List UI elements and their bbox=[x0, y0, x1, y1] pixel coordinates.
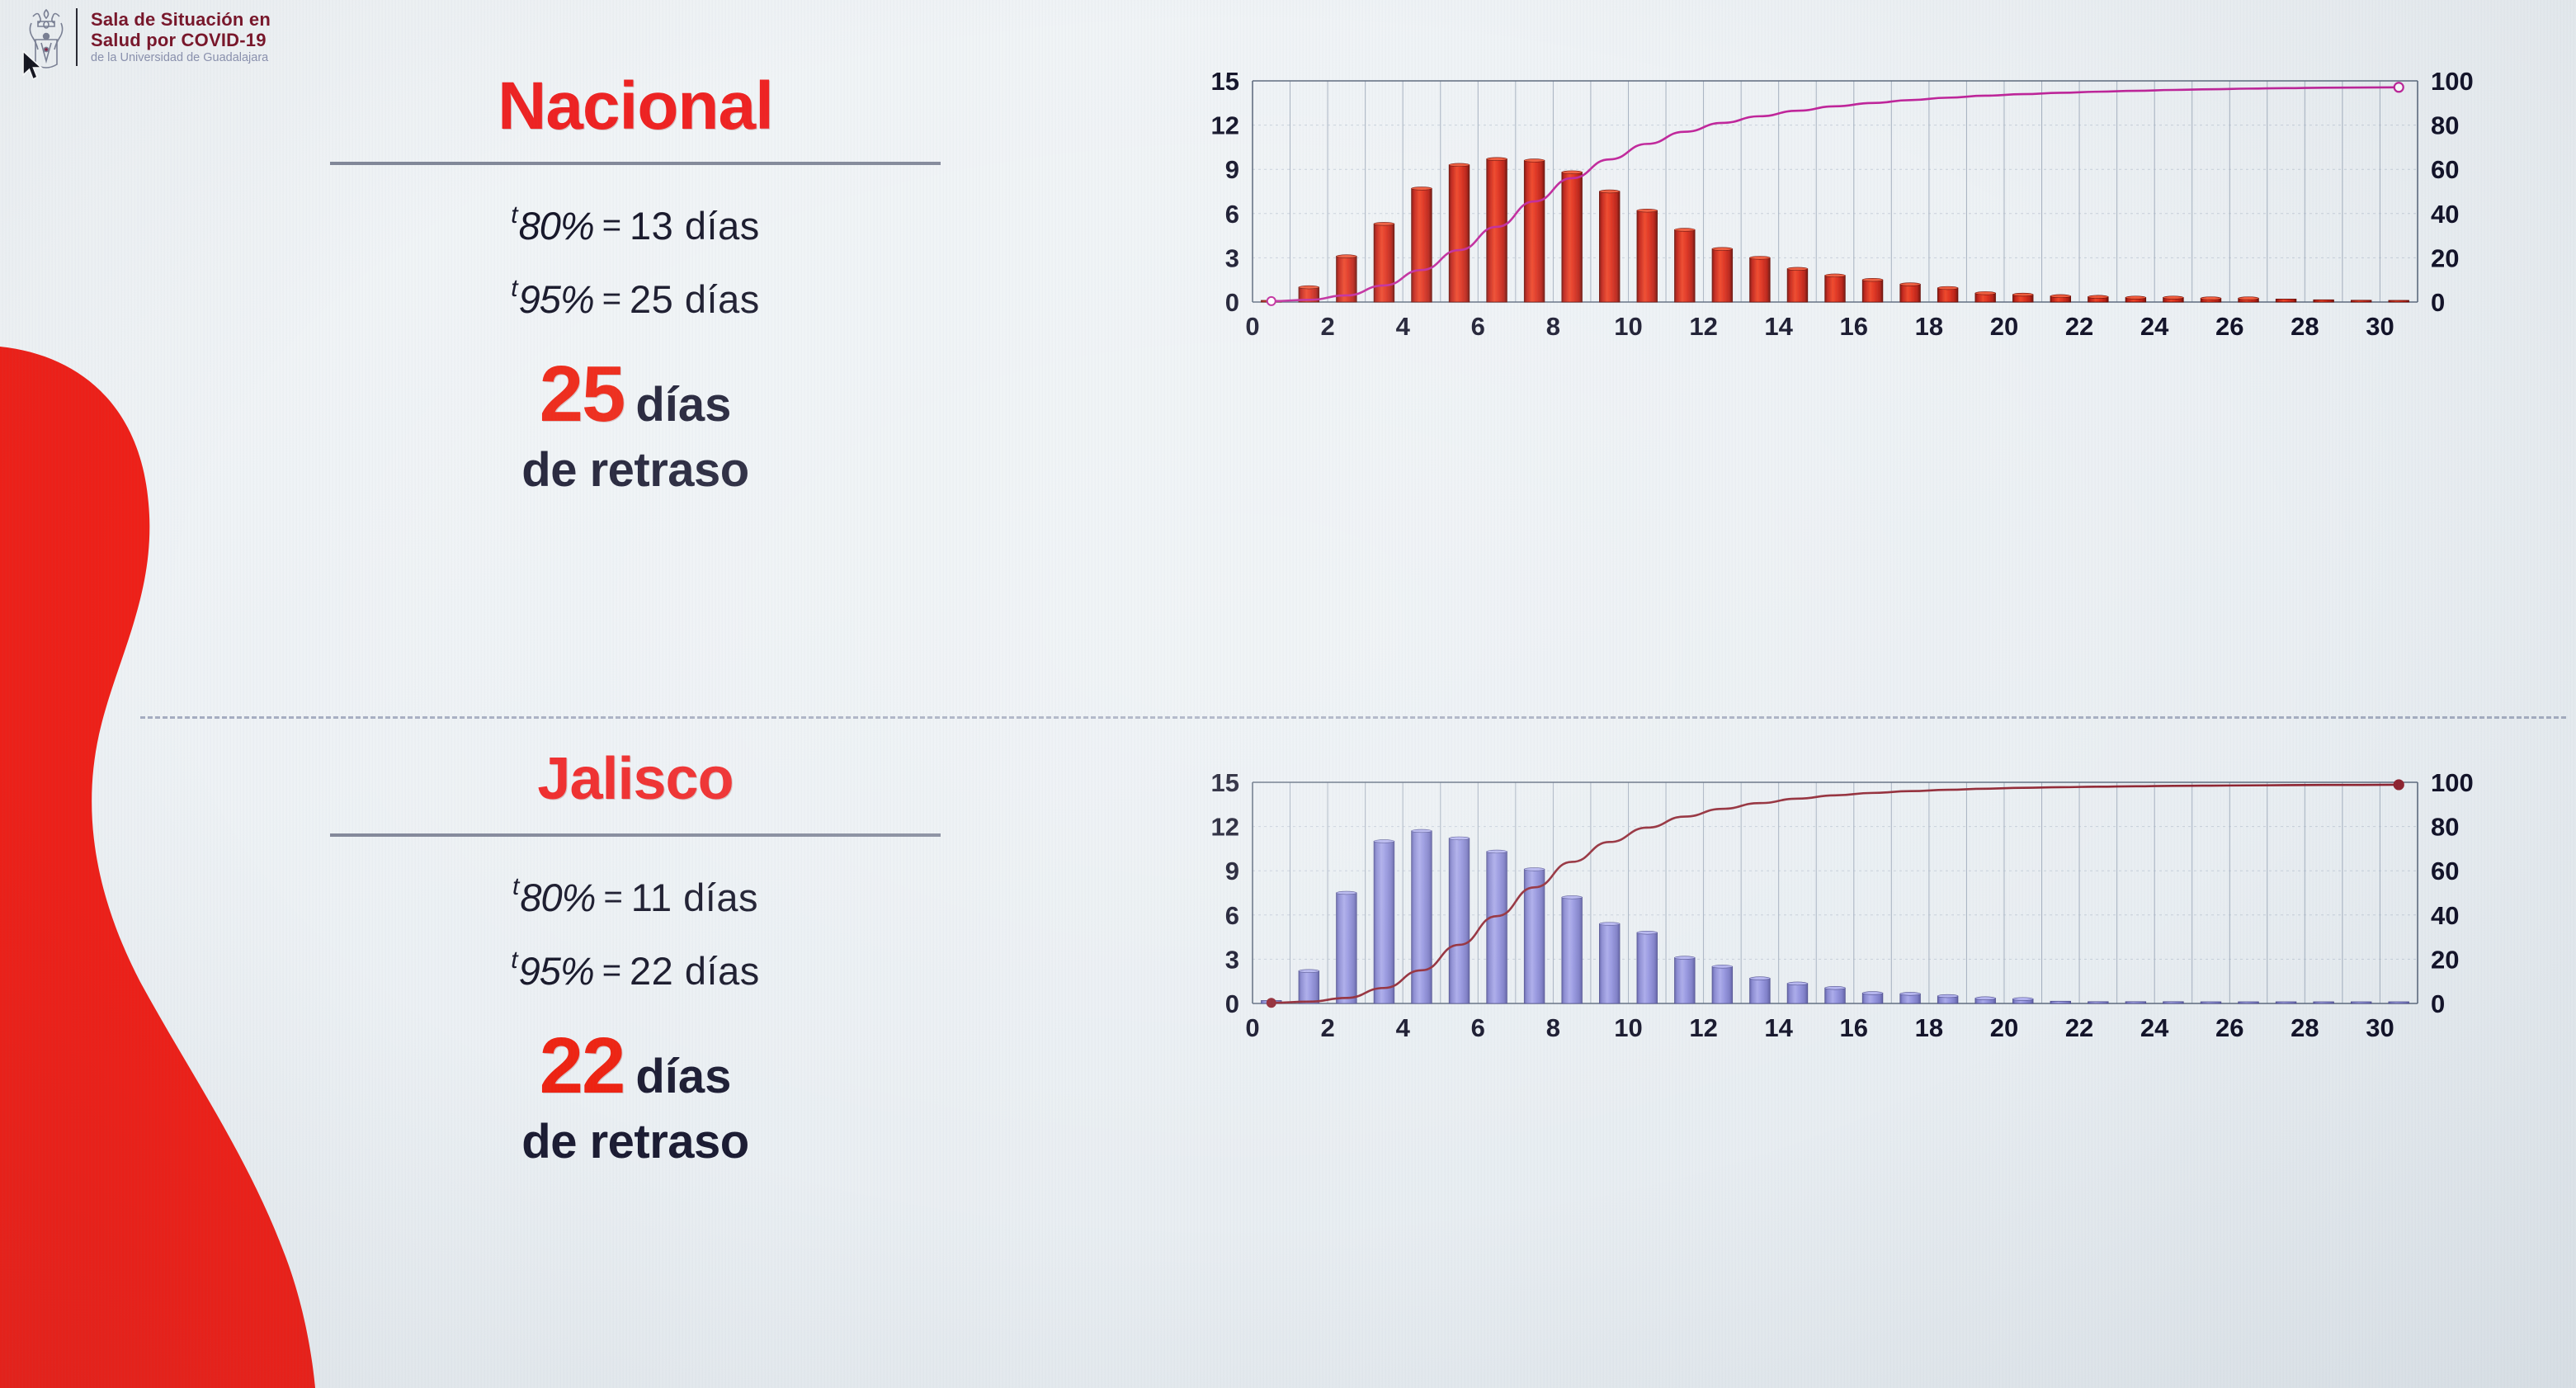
y-axis-tick-label: 3 bbox=[1225, 945, 1239, 974]
x-axis-tick-label: 4 bbox=[1396, 1013, 1411, 1042]
bar bbox=[2201, 1002, 2221, 1003]
y2-axis-tick-label: 20 bbox=[2431, 243, 2459, 272]
mouse-pointer-icon bbox=[21, 50, 45, 84]
bar bbox=[2314, 1002, 2334, 1003]
y2-axis-tick-label: 0 bbox=[2431, 989, 2445, 1018]
y2-axis-tick-label: 40 bbox=[2431, 901, 2459, 930]
brand-line-2: Salud por COVID-19 bbox=[91, 31, 271, 51]
bar bbox=[2314, 300, 2334, 302]
bar bbox=[1750, 977, 1771, 1003]
bar bbox=[2012, 293, 2033, 302]
stat-value-t80: 13 días bbox=[630, 203, 760, 248]
bar bbox=[1374, 222, 1394, 302]
bar bbox=[1524, 159, 1545, 302]
x-axis-tick-label: 20 bbox=[1990, 1013, 2018, 1042]
headline-number-nacional: 25 bbox=[540, 355, 625, 434]
x-axis-tick-label: 8 bbox=[1546, 312, 1560, 341]
bar bbox=[1900, 992, 1921, 1003]
title-rule-jalisco bbox=[330, 833, 941, 837]
stat-equals: = bbox=[602, 952, 621, 989]
y2-axis-tick-label: 60 bbox=[2431, 857, 2459, 885]
stat-symbol-t: t bbox=[511, 275, 517, 303]
bar bbox=[1975, 291, 1996, 302]
bar bbox=[2163, 296, 2184, 302]
x-axis-tick-label: 30 bbox=[2366, 312, 2394, 341]
y-axis-tick-label: 3 bbox=[1225, 243, 1239, 272]
red-wave-decoration bbox=[0, 0, 355, 1388]
svg-nacional-canvas: 0369121502040608010002468101214161820222… bbox=[1155, 66, 2525, 347]
stat-value-t95: 22 días bbox=[630, 948, 760, 994]
brand-divider bbox=[76, 8, 78, 66]
headline-jalisco: 22 días bbox=[272, 1027, 998, 1106]
x-axis-tick-label: 28 bbox=[2291, 1013, 2319, 1042]
curve-start-marker bbox=[1267, 297, 1276, 305]
bar bbox=[2050, 1001, 2071, 1003]
bar bbox=[2088, 295, 2109, 302]
bar bbox=[2351, 300, 2371, 302]
x-axis-tick-label: 8 bbox=[1546, 1013, 1560, 1042]
stat-subscript-95: 95% bbox=[519, 276, 594, 322]
bar bbox=[1787, 982, 1808, 1003]
bar bbox=[2012, 998, 2033, 1003]
x-axis-tick-label: 0 bbox=[1245, 1013, 1259, 1042]
bar bbox=[1487, 158, 1507, 302]
bar bbox=[2389, 300, 2409, 302]
bar bbox=[1712, 248, 1733, 302]
x-axis-tick-label: 2 bbox=[1320, 312, 1334, 341]
y2-axis-tick-label: 100 bbox=[2431, 67, 2474, 96]
stat-row-t95-nacional: t95%=25 días bbox=[272, 276, 998, 322]
x-axis-tick-label: 12 bbox=[1689, 1013, 1717, 1042]
bar bbox=[2239, 297, 2259, 302]
x-axis-tick-label: 26 bbox=[2215, 312, 2243, 341]
headline-sub-jalisco: de retraso bbox=[272, 1114, 998, 1169]
stat-symbol-t: t bbox=[512, 873, 519, 901]
y2-axis-tick-label: 60 bbox=[2431, 155, 2459, 184]
y2-axis-tick-label: 40 bbox=[2431, 200, 2459, 229]
x-axis-tick-label: 10 bbox=[1614, 1013, 1642, 1042]
y-axis-tick-label: 15 bbox=[1211, 67, 1239, 96]
panel-nacional-text: Nacional t80%=13 días t95%=25 días 25 dí… bbox=[272, 73, 998, 498]
y2-axis-tick-label: 80 bbox=[2431, 111, 2459, 140]
headline-unit-nacional: días bbox=[635, 381, 731, 429]
curve-end-marker bbox=[2394, 780, 2404, 789]
stat-equals: = bbox=[602, 207, 621, 244]
bar bbox=[2276, 1002, 2296, 1003]
bar bbox=[1412, 187, 1432, 302]
x-axis-tick-label: 28 bbox=[2291, 312, 2319, 341]
brand-header: Sala de Situación en Salud por COVID-19 … bbox=[25, 7, 271, 71]
stat-subscript-95: 95% bbox=[519, 948, 594, 994]
y-axis-tick-label: 0 bbox=[1225, 288, 1239, 317]
bar bbox=[2125, 296, 2146, 302]
section-divider bbox=[140, 716, 2566, 719]
curve-end-marker bbox=[2394, 83, 2404, 92]
x-axis-tick-label: 26 bbox=[2215, 1013, 2243, 1042]
brand-line-3: de la Universidad de Guadalajara bbox=[91, 51, 271, 65]
y-axis-tick-label: 12 bbox=[1211, 111, 1239, 140]
region-title-nacional: Nacional bbox=[272, 73, 998, 140]
headline-number-jalisco: 22 bbox=[540, 1027, 625, 1106]
x-axis-tick-label: 22 bbox=[2065, 312, 2093, 341]
bar bbox=[1937, 286, 1958, 302]
bar bbox=[1675, 956, 1696, 1003]
x-axis-tick-label: 12 bbox=[1689, 312, 1717, 341]
brand-line-1: Sala de Situación en bbox=[91, 10, 271, 31]
chart-jalisco: 0369121502040608010002468101214161820222… bbox=[1155, 767, 2525, 1048]
bar bbox=[1825, 274, 1846, 302]
stat-subscript-80: 80% bbox=[520, 875, 595, 920]
y-axis-tick-label: 6 bbox=[1225, 200, 1239, 229]
bar bbox=[2239, 1002, 2259, 1003]
x-axis-tick-label: 20 bbox=[1990, 312, 2018, 341]
x-axis-tick-label: 6 bbox=[1471, 312, 1485, 341]
bar bbox=[1487, 850, 1507, 1003]
bar bbox=[1449, 163, 1470, 302]
curve-start-marker bbox=[1267, 999, 1276, 1007]
bar bbox=[2088, 1002, 2109, 1003]
panel-jalisco-text: Jalisco t80%=11 días t95%=22 días 22 día… bbox=[272, 749, 998, 1169]
stat-row-t95-jalisco: t95%=22 días bbox=[272, 948, 998, 994]
y-axis-tick-label: 6 bbox=[1225, 901, 1239, 930]
bar bbox=[1675, 229, 1696, 302]
title-rule-nacional bbox=[330, 162, 941, 165]
bar bbox=[2389, 1002, 2409, 1003]
bar bbox=[1937, 994, 1958, 1003]
headline-nacional: 25 días bbox=[272, 355, 998, 434]
y2-axis-tick-label: 0 bbox=[2431, 288, 2445, 317]
x-axis-tick-label: 24 bbox=[2140, 1013, 2169, 1042]
bar bbox=[1637, 209, 1658, 302]
stat-equals: = bbox=[602, 281, 621, 318]
x-axis-tick-label: 22 bbox=[2065, 1013, 2093, 1042]
bar bbox=[1374, 840, 1394, 1003]
bar bbox=[2201, 297, 2221, 302]
x-axis-tick-label: 6 bbox=[1471, 1013, 1485, 1042]
bar bbox=[1975, 997, 1996, 1003]
headline-sub-nacional: de retraso bbox=[272, 442, 998, 498]
bar bbox=[2163, 1002, 2184, 1003]
stat-value-t80: 11 días bbox=[631, 875, 758, 920]
y-axis-tick-label: 15 bbox=[1211, 768, 1239, 797]
stat-row-t80-jalisco: t80%=11 días bbox=[272, 875, 998, 920]
y2-axis-tick-label: 80 bbox=[2431, 813, 2459, 842]
x-axis-tick-label: 18 bbox=[1915, 1013, 1943, 1042]
y-axis-tick-label: 9 bbox=[1225, 857, 1239, 885]
bar bbox=[1862, 278, 1883, 302]
bar bbox=[1599, 923, 1620, 1003]
stat-value-t95: 25 días bbox=[630, 276, 760, 322]
x-axis-tick-label: 10 bbox=[1614, 312, 1642, 341]
region-title-jalisco: Jalisco bbox=[272, 749, 998, 809]
bar bbox=[2050, 295, 2071, 302]
y2-axis-tick-label: 100 bbox=[2431, 768, 2474, 797]
x-axis-tick-label: 14 bbox=[1764, 1013, 1793, 1042]
x-axis-tick-label: 0 bbox=[1245, 312, 1259, 341]
stat-symbol-t: t bbox=[511, 947, 517, 975]
bar bbox=[1750, 257, 1771, 303]
bar bbox=[2125, 1002, 2146, 1003]
bar bbox=[1900, 283, 1921, 302]
y-axis-tick-label: 9 bbox=[1225, 155, 1239, 184]
y-axis-tick-label: 0 bbox=[1225, 989, 1239, 1018]
y2-axis-tick-label: 20 bbox=[2431, 945, 2459, 974]
x-axis-tick-label: 18 bbox=[1915, 312, 1943, 341]
bar bbox=[1299, 970, 1319, 1003]
bar bbox=[1637, 931, 1658, 1003]
bar bbox=[1337, 891, 1357, 1003]
x-axis-tick-label: 2 bbox=[1320, 1013, 1334, 1042]
stat-equals: = bbox=[603, 879, 622, 916]
headline-unit-jalisco: días bbox=[635, 1053, 731, 1101]
stat-symbol-t: t bbox=[511, 201, 517, 229]
svg-jalisco-canvas: 0369121502040608010002468101214161820222… bbox=[1155, 767, 2525, 1048]
x-axis-tick-label: 14 bbox=[1764, 312, 1793, 341]
bar bbox=[1412, 829, 1432, 1003]
x-axis-tick-label: 16 bbox=[1840, 312, 1868, 341]
x-axis-tick-label: 4 bbox=[1396, 312, 1411, 341]
bar bbox=[1562, 171, 1583, 302]
bar bbox=[1787, 267, 1808, 302]
chart-nacional: 0369121502040608010002468101214161820222… bbox=[1155, 66, 2525, 347]
x-axis-tick-label: 24 bbox=[2140, 312, 2169, 341]
bar bbox=[2276, 299, 2296, 302]
bar bbox=[1562, 895, 1583, 1003]
stat-subscript-80: 80% bbox=[519, 203, 594, 248]
y-axis-tick-label: 12 bbox=[1211, 813, 1239, 842]
bar bbox=[1599, 190, 1620, 302]
x-axis-tick-label: 16 bbox=[1840, 1013, 1868, 1042]
bar bbox=[1862, 992, 1883, 1003]
bar bbox=[1712, 965, 1733, 1003]
stat-row-t80-nacional: t80%=13 días bbox=[272, 203, 998, 248]
bar bbox=[1825, 986, 1846, 1003]
bar bbox=[2351, 1002, 2371, 1003]
x-axis-tick-label: 30 bbox=[2366, 1013, 2394, 1042]
bar bbox=[1449, 837, 1470, 1003]
